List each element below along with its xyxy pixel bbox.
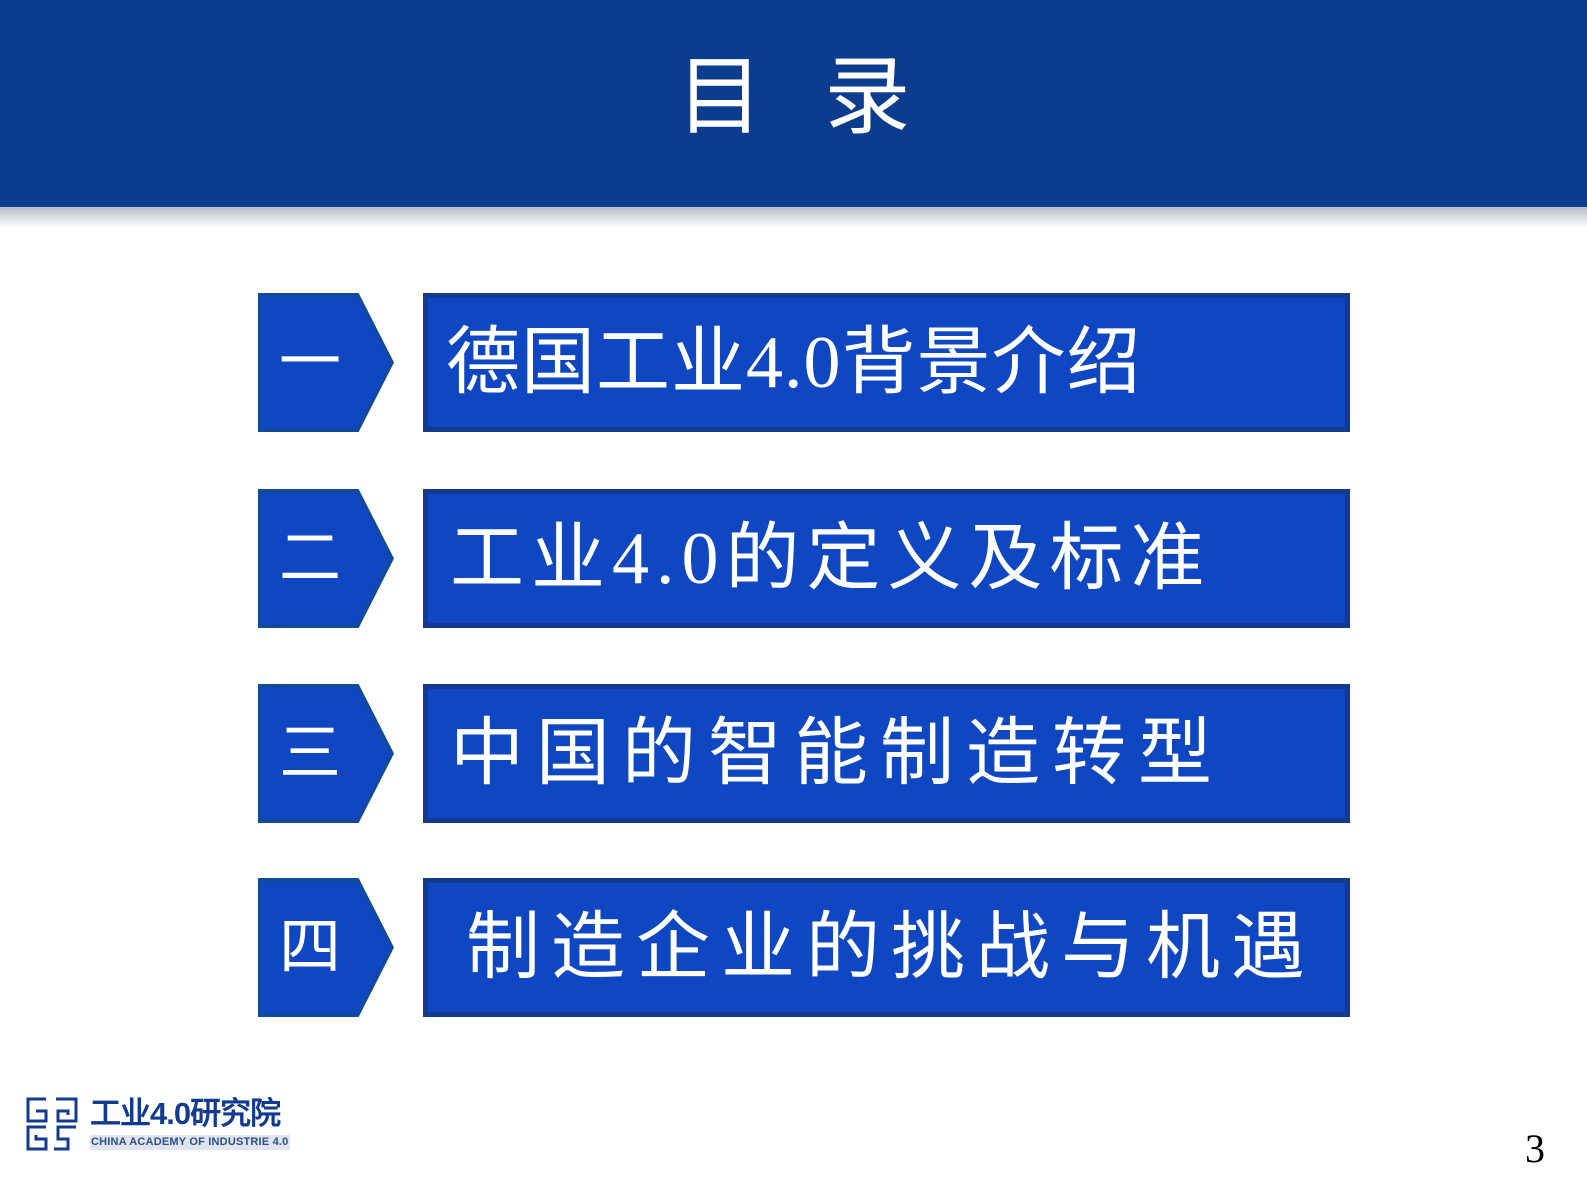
agenda-item-3[interactable]: 三 中国的智能制造转型 bbox=[258, 684, 1350, 823]
agenda-index-2: 二 bbox=[258, 489, 362, 628]
agenda-label-3: 中国的智能制造转型 bbox=[428, 717, 1224, 791]
logo-name-en: CHINA ACADEMY OF INDUSTRIE 4.0 bbox=[90, 1135, 290, 1150]
presentation-slide: 目 录 一 德国工业4.0背景介绍 二 工业4.0的定义及标准 bbox=[0, 0, 1587, 1191]
agenda-label-box-3[interactable]: 中国的智能制造转型 bbox=[423, 684, 1350, 823]
agenda-label-4: 制造企业的挑战与机遇 bbox=[428, 911, 1316, 985]
agenda-label-box-1[interactable]: 德国工业4.0背景介绍 bbox=[423, 293, 1350, 432]
logo-name-cn: 工业4.0研究院 bbox=[90, 1098, 290, 1131]
agenda-label-box-4[interactable]: 制造企业的挑战与机遇 bbox=[423, 878, 1350, 1017]
agenda-label-box-2[interactable]: 工业4.0的定义及标准 bbox=[423, 489, 1350, 628]
agenda-index-4: 四 bbox=[258, 878, 362, 1017]
agenda-label-2: 工业4.0的定义及标准 bbox=[428, 522, 1212, 596]
agenda-item-4[interactable]: 四 制造企业的挑战与机遇 bbox=[258, 878, 1350, 1017]
agenda-label-1: 德国工业4.0背景介绍 bbox=[428, 326, 1142, 400]
logo-text-block: 工业4.0研究院 CHINA ACADEMY OF INDUSTRIE 4.0 bbox=[90, 1098, 290, 1151]
page-number: 3 bbox=[1525, 1129, 1545, 1169]
agenda-item-1[interactable]: 一 德国工业4.0背景介绍 bbox=[258, 293, 1350, 432]
organization-logo: 工业4.0研究院 CHINA ACADEMY OF INDUSTRIE 4.0 bbox=[22, 1078, 240, 1170]
agenda-index-3: 三 bbox=[258, 684, 362, 823]
maze-monogram-icon bbox=[22, 1095, 84, 1153]
agenda-list: 一 德国工业4.0背景介绍 二 工业4.0的定义及标准 三 中国的智能制造转型 bbox=[0, 0, 1587, 1191]
agenda-item-2[interactable]: 二 工业4.0的定义及标准 bbox=[258, 489, 1350, 628]
agenda-index-1: 一 bbox=[258, 293, 362, 432]
